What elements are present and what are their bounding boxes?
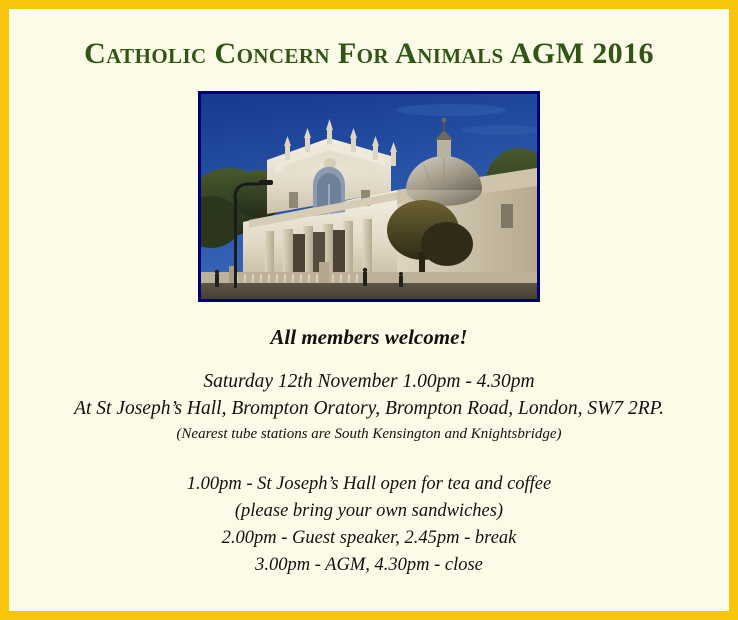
event-transport-note: (Nearest tube stations are South Kensing… — [9, 423, 729, 446]
schedule-item: (please bring your own sandwiches) — [9, 498, 729, 525]
event-venue-line: At St Joseph’s Hall, Brompton Oratory, B… — [9, 395, 729, 423]
event-schedule: 1.00pm - St Joseph’s Hall open for tea a… — [9, 446, 729, 578]
brompton-oratory-photo — [198, 91, 540, 302]
event-date-line: Saturday 12th November 1.00pm - 4.30pm — [9, 368, 729, 396]
schedule-item: 2.00pm - Guest speaker, 2.45pm - break — [9, 525, 729, 552]
welcome-text: All members welcome! — [9, 302, 729, 350]
schedule-item: 1.00pm - St Joseph’s Hall open for tea a… — [9, 471, 729, 498]
poster-inner: Catholic Concern For Animals AGM 2016 — [9, 9, 729, 611]
church-photo-illustration — [201, 94, 537, 299]
event-details: Saturday 12th November 1.00pm - 4.30pm A… — [9, 350, 729, 447]
event-poster: Catholic Concern For Animals AGM 2016 — [0, 0, 738, 620]
page-title: Catholic Concern For Animals AGM 2016 — [9, 9, 729, 70]
schedule-item: 3.00pm - AGM, 4.30pm - close — [9, 552, 729, 579]
